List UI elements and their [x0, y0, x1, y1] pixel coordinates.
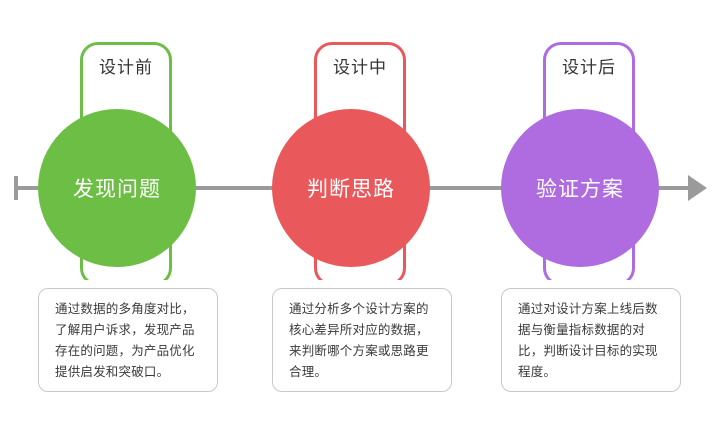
stage-group-3: 设计后 验证方案 通过对设计方案上线后数据与衡量指标数据的对比，判断设计目标的实…: [463, 0, 703, 429]
phase-label-3: 设计后: [543, 56, 635, 80]
description-card-3: 通过对设计方案上线后数据与衡量指标数据的对比，判断设计目标的实现程度。: [501, 288, 681, 392]
description-card-1: 通过数据的多角度对比，了解用户诉求，发现产品存在的问题，为产品优化提供启发和突破…: [38, 288, 218, 392]
stage-circle-label-1: 发现问题: [73, 173, 161, 203]
stage-group-1: 设计前 发现问题 通过数据的多角度对比，了解用户诉求，发现产品存在的问题，为产品…: [0, 0, 240, 429]
description-text-3: 通过对设计方案上线后数据与衡量指标数据的对比，判断设计目标的实现程度。: [518, 299, 666, 383]
description-card-2: 通过分析多个设计方案的核心差异所对应的数据，来判断哪个方案或思路更合理。: [272, 288, 452, 392]
description-text-1: 通过数据的多角度对比，了解用户诉求，发现产品存在的问题，为产品优化提供启发和突破…: [55, 299, 203, 383]
phase-label-2: 设计中: [314, 56, 406, 80]
description-text-2: 通过分析多个设计方案的核心差异所对应的数据，来判断哪个方案或思路更合理。: [289, 299, 437, 383]
stage-circle-3[interactable]: 验证方案: [501, 109, 659, 267]
stage-circle-label-3: 验证方案: [536, 173, 624, 203]
stage-group-2: 设计中 判断思路 通过分析多个设计方案的核心差异所对应的数据，来判断哪个方案或思…: [234, 0, 474, 429]
stage-circle-label-2: 判断思路: [307, 173, 395, 203]
stage-circle-1[interactable]: 发现问题: [38, 109, 196, 267]
diagram-canvas: 设计前 发现问题 通过数据的多角度对比，了解用户诉求，发现产品存在的问题，为产品…: [0, 0, 720, 429]
phase-label-1: 设计前: [80, 56, 172, 80]
stage-circle-2[interactable]: 判断思路: [272, 109, 430, 267]
